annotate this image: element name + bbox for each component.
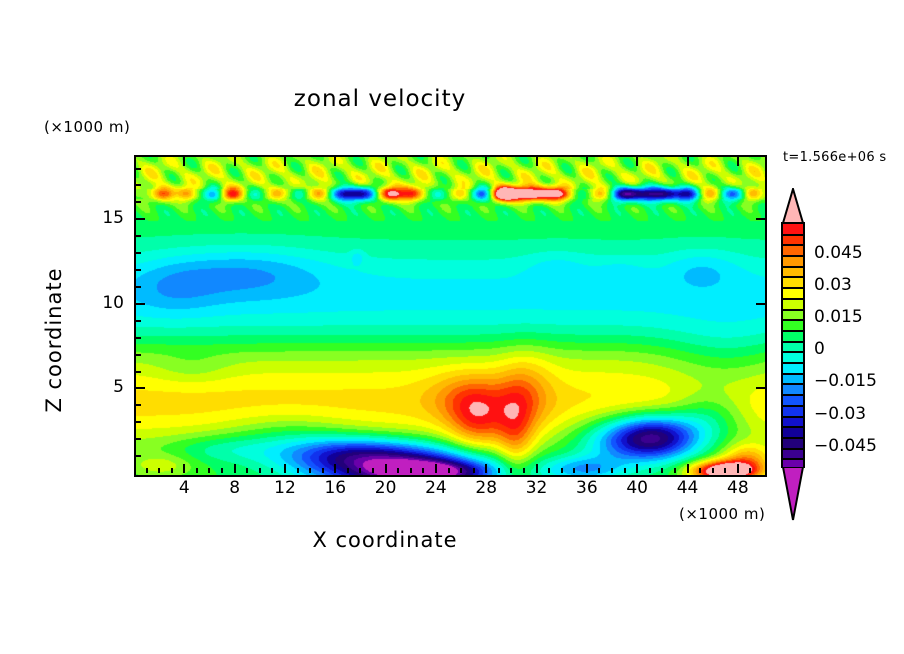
colorbar-band-separator	[783, 276, 803, 278]
x-axis-major-tick	[737, 464, 739, 473]
colorbar-band-separator	[783, 298, 803, 300]
x-axis-minor-tick	[724, 468, 726, 473]
x-axis-minor-tick	[158, 468, 160, 473]
x-axis-major-tick	[284, 464, 286, 473]
colorbar	[781, 222, 805, 468]
y-axis-minor-tick	[136, 168, 141, 170]
x-axis-minor-tick	[208, 468, 210, 473]
x-axis-minor-tick	[460, 468, 462, 473]
x-axis-minor-tick	[322, 468, 324, 473]
x-axis-tick-label: 20	[366, 478, 406, 498]
y-axis-tick-label: 15	[84, 208, 124, 228]
x-axis-major-tick	[586, 464, 588, 473]
x-axis-top-tick	[586, 157, 588, 166]
y-axis-minor-tick	[136, 371, 141, 373]
colorbar-band-separator	[783, 448, 803, 450]
y-axis-minor-tick	[136, 286, 141, 288]
velocity-field-canvas	[136, 157, 765, 475]
colorbar-band-separator	[783, 426, 803, 428]
x-axis-tick-label: 40	[617, 478, 657, 498]
y-axis-minor-tick	[136, 404, 141, 406]
colorbar-band-separator	[783, 266, 803, 268]
y-axis-minor-tick	[136, 337, 141, 339]
x-axis-tick-label: 44	[668, 478, 708, 498]
x-axis-minor-tick	[699, 468, 701, 473]
y-axis-major-tick	[136, 387, 145, 389]
y-axis-major-tick	[136, 218, 145, 220]
colorbar-band-separator	[783, 383, 803, 385]
y-axis-minor-tick	[136, 184, 141, 186]
x-axis-minor-tick	[347, 468, 349, 473]
x-axis-minor-tick	[221, 468, 223, 473]
x-axis-minor-tick	[498, 468, 500, 473]
x-axis-major-tick	[485, 464, 487, 473]
x-axis-minor-tick	[523, 468, 525, 473]
y-axis-minor-tick	[136, 421, 141, 423]
x-axis-minor-tick	[171, 468, 173, 473]
y-axis-minor-tick	[136, 252, 141, 254]
x-axis-minor-tick	[259, 468, 261, 473]
y-axis-minor-tick	[136, 320, 141, 322]
colorbar-band-separator	[783, 373, 803, 375]
x-axis-minor-tick	[246, 468, 248, 473]
x-axis-minor-tick	[611, 468, 613, 473]
colorbar-tick-label: 0	[814, 339, 825, 359]
y-axis-unit-label: (×1000 m)	[44, 118, 130, 136]
x-axis-minor-tick	[573, 468, 575, 473]
colorbar-band-separator	[783, 458, 803, 460]
colorbar-tick-label: −0.015	[814, 371, 877, 391]
x-axis-minor-tick	[271, 468, 273, 473]
colorbar-band-separator	[783, 287, 803, 289]
y-axis-major-tick	[136, 303, 145, 305]
y-axis-minor-tick	[136, 354, 141, 356]
x-axis-minor-tick	[146, 468, 148, 473]
colorbar-band-separator	[783, 255, 803, 257]
x-axis-top-tick	[737, 157, 739, 166]
y-axis-title: Z coordinate	[42, 240, 66, 440]
x-axis-top-tick	[334, 157, 336, 166]
x-axis-major-tick	[687, 464, 689, 473]
y-axis-right-tick	[756, 218, 765, 220]
x-axis-minor-tick	[598, 468, 600, 473]
x-axis-minor-tick	[359, 468, 361, 473]
y-axis-right-tick	[756, 387, 765, 389]
x-axis-minor-tick	[661, 468, 663, 473]
x-axis-title: X coordinate	[0, 528, 770, 552]
colorbar-band-separator	[783, 416, 803, 418]
y-axis-minor-tick	[136, 235, 141, 237]
x-axis-minor-tick	[473, 468, 475, 473]
x-axis-minor-tick	[624, 468, 626, 473]
x-axis-minor-tick	[649, 468, 651, 473]
colorbar-tick-label: −0.03	[814, 404, 866, 424]
x-axis-tick-label: 4	[164, 478, 204, 498]
x-axis-major-tick	[536, 464, 538, 473]
x-axis-tick-label: 32	[517, 478, 557, 498]
colorbar-tick-label: 0.045	[814, 243, 863, 263]
timestamp-annotation: t=1.566e+06 s	[783, 150, 886, 165]
x-axis-tick-label: 28	[466, 478, 506, 498]
x-axis-minor-tick	[422, 468, 424, 473]
colorbar-band-separator	[783, 341, 803, 343]
y-axis-minor-tick	[136, 438, 141, 440]
colorbar-band-separator	[783, 319, 803, 321]
x-axis-tick-label: 48	[718, 478, 758, 498]
x-axis-top-tick	[385, 157, 387, 166]
colorbar-band-separator	[783, 330, 803, 332]
colorbar-band-separator	[783, 394, 803, 396]
x-axis-tick-label: 8	[215, 478, 255, 498]
x-axis-major-tick	[334, 464, 336, 473]
colorbar-tick-label: 0.03	[814, 275, 852, 295]
x-axis-top-tick	[536, 157, 538, 166]
x-axis-tick-label: 24	[416, 478, 456, 498]
x-axis-minor-tick	[448, 468, 450, 473]
x-axis-minor-tick	[309, 468, 311, 473]
x-axis-minor-tick	[510, 468, 512, 473]
x-axis-top-tick	[234, 157, 236, 166]
colorbar-tick-label: −0.045	[814, 436, 877, 456]
y-axis-right-tick	[756, 303, 765, 305]
x-axis-minor-tick	[297, 468, 299, 473]
colorbar-band-separator	[783, 309, 803, 311]
x-axis-top-tick	[284, 157, 286, 166]
x-axis-tick-label: 36	[567, 478, 607, 498]
x-axis-major-tick	[234, 464, 236, 473]
colorbar-band-separator	[783, 362, 803, 364]
y-axis-minor-tick	[136, 269, 141, 271]
x-axis-minor-tick	[372, 468, 374, 473]
colorbar-tick-label: 0.015	[814, 307, 863, 327]
y-axis-tick-label: 10	[84, 293, 124, 313]
x-axis-major-tick	[435, 464, 437, 473]
x-axis-minor-tick	[561, 468, 563, 473]
colorbar-over-cap	[781, 188, 805, 223]
x-axis-major-tick	[636, 464, 638, 473]
colorbar-band-separator	[783, 437, 803, 439]
x-axis-top-tick	[485, 157, 487, 166]
x-axis-minor-tick	[196, 468, 198, 473]
colorbar-band-separator	[783, 234, 803, 236]
colorbar-band-separator	[783, 351, 803, 353]
x-axis-minor-tick	[674, 468, 676, 473]
x-axis-minor-tick	[712, 468, 714, 473]
colorbar-under-cap	[781, 467, 805, 521]
x-axis-major-tick	[183, 464, 185, 473]
x-axis-major-tick	[385, 464, 387, 473]
x-axis-minor-tick	[548, 468, 550, 473]
x-axis-top-tick	[636, 157, 638, 166]
x-axis-top-tick	[435, 157, 437, 166]
x-axis-top-tick	[687, 157, 689, 166]
x-axis-tick-label: 12	[265, 478, 305, 498]
colorbar-band-separator	[783, 244, 803, 246]
plot-title: zonal velocity	[0, 86, 760, 112]
x-axis-minor-tick	[397, 468, 399, 473]
y-axis-minor-tick	[136, 455, 141, 457]
x-axis-unit-label: (×1000 m)	[679, 505, 765, 523]
x-axis-top-tick	[183, 157, 185, 166]
x-axis-minor-tick	[410, 468, 412, 473]
x-axis-tick-label: 16	[315, 478, 355, 498]
colorbar-band-separator	[783, 405, 803, 407]
figure-root: zonal velocity (×1000 m) (×1000 m) t=1.5…	[0, 0, 904, 654]
x-axis-minor-tick	[749, 468, 751, 473]
y-axis-tick-label: 5	[84, 377, 124, 397]
contour-plot-area	[134, 155, 767, 477]
y-axis-minor-tick	[136, 201, 141, 203]
